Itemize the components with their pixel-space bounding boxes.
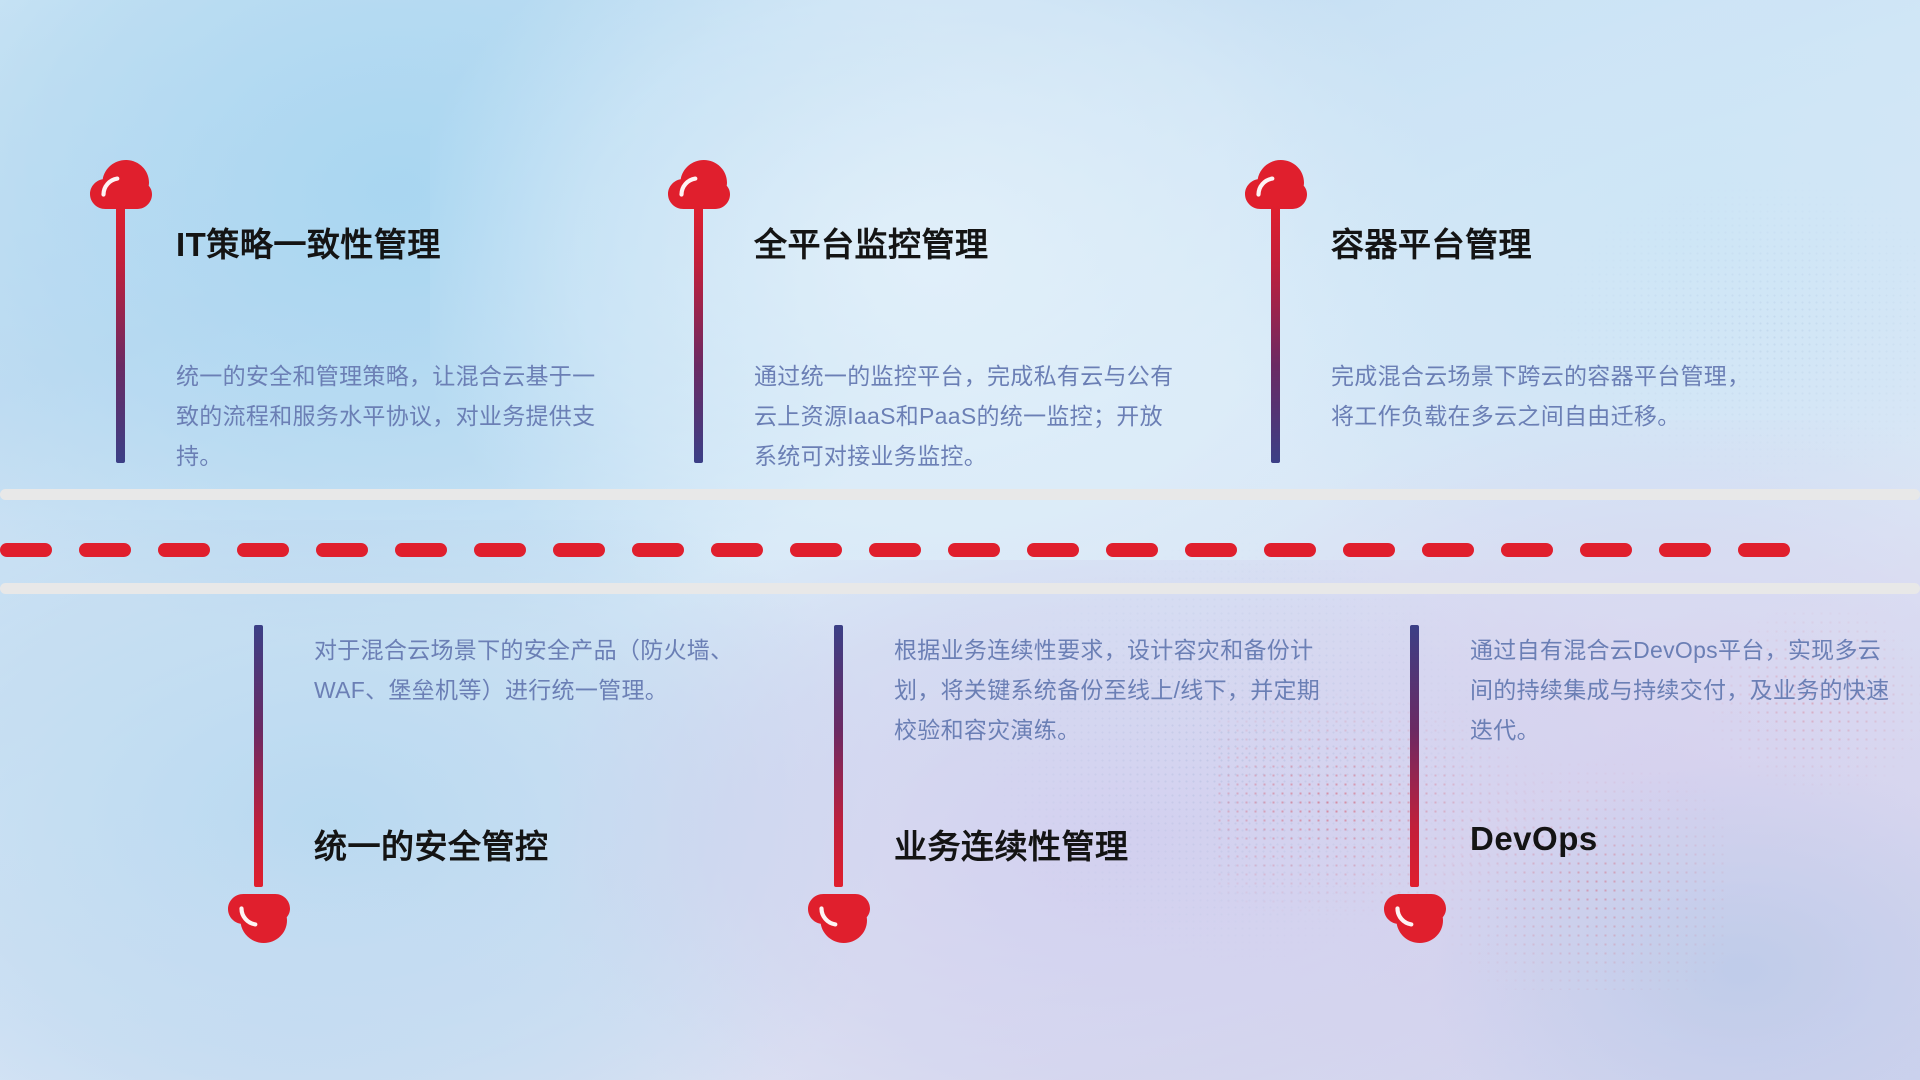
cloud-pin-icon [90, 160, 152, 210]
cloud-pin-icon [808, 893, 870, 943]
divider-bar-bottom [0, 583, 1920, 594]
card-body-text: 统一的安全和管理策略，让混合云基于一致的流程和服务水平协议，对业务提供支持。 [176, 356, 606, 476]
divider-bar-top [0, 489, 1920, 500]
card-body-text: 完成混合云场景下跨云的容器平台管理，将工作负载在多云之间自由迁移。 [1331, 356, 1761, 436]
divider-dash [316, 543, 368, 557]
divider-dash [395, 543, 447, 557]
connector-stem [116, 205, 125, 463]
divider-dash [1027, 543, 1079, 557]
divider-dash [553, 543, 605, 557]
divider-dash [711, 543, 763, 557]
divider-dash [79, 543, 131, 557]
card-heading: 容器平台管理 [1331, 218, 1532, 266]
divider-dash [1185, 543, 1237, 557]
divider-dash [948, 543, 1000, 557]
connector-stem [834, 625, 843, 887]
card-body-text: 通过自有混合云DevOps平台，实现多云间的持续集成与持续交付，及业务的快速迭代… [1470, 630, 1900, 750]
card-body-text: 通过统一的监控平台，完成私有云与公有云上资源IaaS和PaaS的统一监控；开放系… [754, 356, 1184, 476]
divider-dash [869, 543, 921, 557]
card-body-text: 对于混合云场景下的安全产品（防火墙、WAF、堡垒机等）进行统一管理。 [314, 630, 744, 710]
cloud-pin-icon [668, 160, 730, 210]
connector-stem [254, 625, 263, 887]
divider-dashed-line [0, 543, 1920, 557]
divider-dash [1738, 543, 1790, 557]
divider-dash [237, 543, 289, 557]
card-heading: IT策略一致性管理 [176, 218, 441, 266]
divider-dash [1264, 543, 1316, 557]
divider-dash [1501, 543, 1553, 557]
divider-dash [158, 543, 210, 557]
divider-dash [790, 543, 842, 557]
cloud-pin-icon [1384, 893, 1446, 943]
cloud-pin-icon [228, 893, 290, 943]
divider-dash [1343, 543, 1395, 557]
divider-dash [1659, 543, 1711, 557]
cloud-pin-icon [1245, 160, 1307, 210]
card-heading: 全平台监控管理 [754, 218, 989, 266]
card-body-text: 根据业务连续性要求，设计容灾和备份计划，将关键系统备份至线上/线下，并定期校验和… [894, 630, 1324, 750]
divider-dash [1106, 543, 1158, 557]
divider-dash [632, 543, 684, 557]
card-heading: 业务连续性管理 [894, 820, 1129, 868]
background-red-dot-texture-mid [1430, 760, 1730, 990]
connector-stem [1271, 205, 1280, 463]
divider-dash [1422, 543, 1474, 557]
card-heading: 统一的安全管控 [314, 820, 549, 868]
divider-dash [474, 543, 526, 557]
divider-dash [1580, 543, 1632, 557]
connector-stem [694, 205, 703, 463]
divider-dash [0, 543, 52, 557]
card-heading: DevOps [1470, 820, 1598, 858]
connector-stem [1410, 625, 1419, 887]
